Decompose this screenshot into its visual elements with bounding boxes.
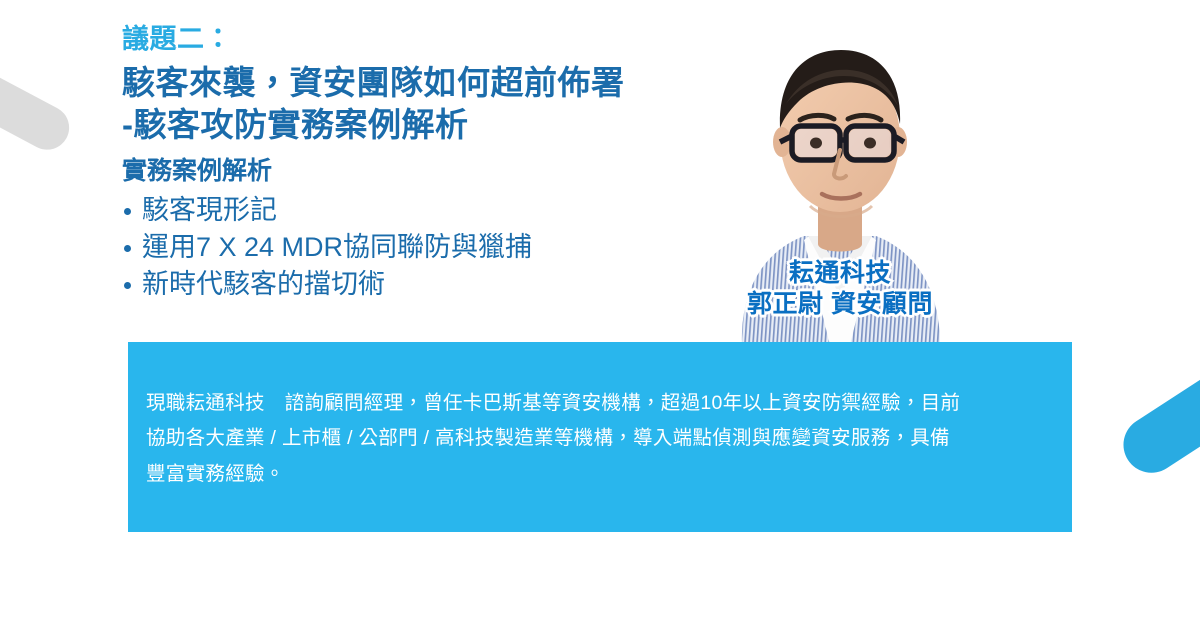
bullet-label: 新時代駭客的擋切術 xyxy=(142,269,385,299)
session-text-column: 議題二： 駭客來襲，資安團隊如何超前佈署 -駭客攻防實務案例解析 實務案例解析 … xyxy=(122,22,722,303)
speaker-bio-panel: 現職耘通科技 諮詢顧問經理，曾任卡巴斯基等資安機構，超過10年以上資安防禦經驗，… xyxy=(128,342,1072,532)
speaker-bio-text: 現職耘通科技 諮詢顧問經理，曾任卡巴斯基等資安機構，超過10年以上資安防禦經驗，… xyxy=(146,386,1056,492)
speaker-name-title: 郭正尉 資安顧問 xyxy=(700,289,980,320)
bio-line: 豐富實務經驗。 xyxy=(146,457,1056,492)
speaker-caption: 耘通科技 郭正尉 資安顧問 xyxy=(700,258,980,319)
bullet-dot-icon xyxy=(124,282,131,289)
bio-line: 現職耘通科技 諮詢顧問經理，曾任卡巴斯基等資安機構，超過10年以上資安防禦經驗，… xyxy=(146,386,1056,421)
bullet-label: 運用7 X 24 MDR協同聯防與獵捕 xyxy=(142,232,532,262)
bullet-label: 駭客現形記 xyxy=(142,195,277,225)
session-bullet-list: 駭客現形記 運用7 X 24 MDR協同聯防與獵捕 新時代駭客的擋切術 xyxy=(122,192,722,304)
list-item: 駭客現形記 xyxy=(122,192,722,229)
gray-diagonal-bar-decoration xyxy=(0,11,77,158)
session-title-line-2: -駭客攻防實務案例解析 xyxy=(122,104,722,146)
session-title-line-1: 駭客來襲，資安團隊如何超前佈署 xyxy=(122,62,722,104)
list-item: 新時代駭客的擋切術 xyxy=(122,266,722,303)
session-kicker: 議題二： xyxy=(122,22,722,57)
bio-line: 協助各大產業 / 上市櫃 / 公部門 / 高科技製造業等機構，導入端點偵測與應變… xyxy=(146,421,1056,456)
bullet-dot-icon xyxy=(124,245,131,252)
speaker-company: 耘通科技 xyxy=(700,258,980,289)
bullet-dot-icon xyxy=(124,208,131,215)
slide-canvas: 議題二： 駭客來襲，資安團隊如何超前佈署 -駭客攻防實務案例解析 實務案例解析 … xyxy=(0,0,1200,619)
session-subtitle: 實務案例解析 xyxy=(122,155,722,188)
blue-diagonal-bar-decoration xyxy=(1113,333,1200,483)
list-item: 運用7 X 24 MDR協同聯防與獵捕 xyxy=(122,229,722,266)
